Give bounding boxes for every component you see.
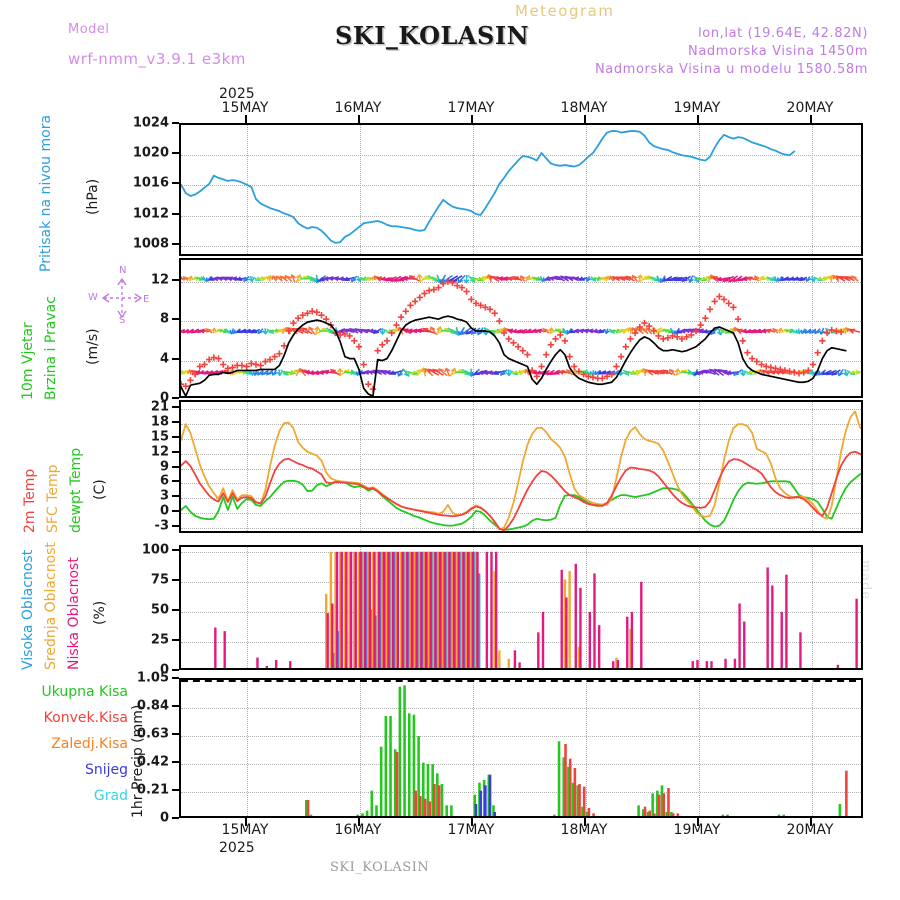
precip-bar: [569, 759, 572, 816]
cloud-bar: [387, 552, 389, 668]
precip-bar: [419, 796, 422, 816]
ytickmark-precip-1: [172, 789, 179, 791]
model-label: Model: [68, 22, 110, 37]
wind-gust-marker: [548, 342, 554, 348]
cloud-bar: [766, 567, 768, 668]
precip-bar: [361, 813, 364, 816]
wind-gust-marker: [253, 361, 259, 367]
cloud-bar: [837, 665, 839, 668]
ytick-temp-0: -3: [155, 518, 169, 533]
ytick-cloud-2: 50: [151, 602, 169, 617]
precip-bar: [839, 804, 842, 816]
date-tickmark: [358, 115, 360, 123]
wind-gust-marker: [360, 361, 366, 367]
wind-gust-marker: [740, 338, 746, 344]
ytickmark-temp-4: [172, 466, 179, 468]
cloud-bar: [640, 582, 642, 668]
cloud-bar: [341, 552, 343, 668]
cloud-bar: [392, 552, 394, 668]
wind-gust-marker: [384, 338, 390, 344]
ytickmark-cloud-2: [172, 609, 179, 611]
date-tickmark: [697, 818, 699, 826]
wind-gust-marker: [814, 349, 820, 355]
wind-barb: [670, 370, 676, 376]
precip-bar: [366, 811, 369, 816]
precip-bar: [782, 815, 785, 816]
cloud-bar: [734, 659, 736, 668]
wind-gust-marker: [623, 344, 629, 350]
precip-bar: [564, 744, 567, 816]
wind-gust-marker: [552, 336, 558, 342]
cloud-bar: [799, 632, 801, 668]
cloud-bar: [743, 622, 745, 668]
wind-gust-marker: [697, 322, 703, 328]
precip-bar: [408, 713, 411, 816]
cloud-bar: [439, 552, 441, 668]
precip-bar: [433, 784, 436, 816]
ytickmark-wind-2: [172, 318, 179, 320]
precip-bar: [475, 804, 478, 816]
wind-gust-marker: [744, 349, 750, 355]
ytick-precip-3: 0.63: [137, 727, 169, 742]
wind-gust-marker: [239, 362, 245, 368]
precip-bar: [553, 815, 556, 816]
ytickmark-temp-8: [172, 406, 179, 408]
cloud-bar: [434, 552, 436, 668]
cloud-bar: [429, 552, 431, 668]
wind-gust-marker: [398, 314, 404, 320]
cloud-bar: [598, 625, 600, 668]
cloud-bar: [518, 662, 520, 668]
precip-bar: [592, 813, 595, 816]
label-cloud-series-1: Srednja Oblacnost: [43, 542, 59, 670]
wind-gust-marker: [768, 364, 774, 370]
cloud-bar: [266, 666, 268, 668]
wind-gust-marker: [707, 306, 713, 312]
cloud-bar: [781, 612, 783, 668]
ytickmark-cloud-1: [172, 639, 179, 641]
ytick-cloud-4: 100: [142, 542, 169, 557]
ytick-precip-4: 0.84: [137, 699, 169, 714]
ytick-temp-4: 9: [160, 459, 169, 474]
wind-gust-marker: [524, 351, 530, 357]
cloud-bar: [710, 661, 712, 668]
ytickmark-wind-3: [172, 279, 179, 281]
cloud-bar: [444, 552, 446, 668]
ytickmark-precip-2: [172, 761, 179, 763]
ytickmark-pressure-3: [172, 152, 179, 154]
top-date-tick-17may: 17MAY: [448, 100, 495, 116]
date-tickmark: [584, 115, 586, 123]
wind-barb: [184, 277, 189, 280]
precip-bar: [389, 716, 392, 816]
cloud-bar: [383, 552, 385, 668]
cloud-bar: [275, 660, 277, 668]
precip-bar: [438, 785, 441, 816]
cloud-bar: [472, 552, 474, 668]
temperature-line-0: [181, 452, 861, 531]
wind-gust-marker: [726, 300, 732, 306]
cloud-bar: [331, 603, 333, 668]
wind-gust-marker: [735, 316, 741, 322]
top-date-tick-18may: 18MAY: [561, 100, 608, 116]
precip-bar: [778, 815, 781, 816]
label-pressure-unit: (hPa): [85, 179, 101, 215]
precip-bar: [637, 805, 640, 816]
precip-bar: [403, 685, 406, 816]
cloud-bar: [724, 659, 726, 668]
wind-gust-marker: [506, 336, 512, 342]
label-cloud-series-2: Niska Oblacnost: [66, 557, 82, 670]
cloud-bar: [326, 613, 328, 668]
ytick-pressure-2: 1016: [133, 176, 169, 191]
panel-temperature: [179, 400, 863, 533]
cloud-bar: [771, 585, 773, 668]
precip-bar: [450, 805, 453, 816]
cloud-bar: [738, 603, 740, 668]
cloud-bar: [537, 632, 539, 668]
label-wind-unit: (m/s): [85, 328, 101, 365]
wind-gust-marker: [365, 381, 371, 387]
cloud-bar: [593, 573, 595, 668]
label-brzina-i-pravac: Brzina i Pravac: [43, 296, 59, 400]
precip-bar: [399, 687, 402, 816]
cloud-bar: [855, 599, 857, 668]
precip-bar: [445, 805, 448, 816]
ytickmark-precip-4: [172, 705, 179, 707]
bottom-axis-year: 2025: [219, 840, 255, 856]
top-date-tick-19may: 19MAY: [674, 100, 721, 116]
wind-gust-marker: [538, 363, 544, 369]
label-precip-series-2: Zaledj.Kisa: [51, 736, 128, 752]
precip-bar: [658, 795, 661, 816]
wind-gust-marker: [220, 361, 226, 367]
cloud-bar: [476, 552, 478, 668]
wind-gust-marker: [520, 348, 526, 354]
compass-west-label: W: [88, 292, 98, 303]
precip-bar: [424, 799, 427, 816]
date-tickmark: [810, 818, 812, 826]
footer-station-name: SKI_KOLASIN: [330, 860, 429, 875]
cloud-bar: [289, 661, 291, 668]
precip-bar: [588, 808, 591, 816]
ytick-wind-1: 4: [160, 351, 169, 366]
ytickmark-precip-3: [172, 733, 179, 735]
precip-bar: [722, 815, 725, 816]
ytick-temp-2: 3: [160, 489, 169, 504]
wind-gust-marker: [510, 340, 516, 346]
wind-barb: [675, 369, 680, 375]
wind-gust-marker: [496, 318, 502, 324]
wind-gust-marker: [463, 288, 469, 294]
label-precip-series-3: Snijeg: [85, 762, 128, 778]
cloud-bar: [406, 552, 408, 668]
ytick-precip-5: 1.05: [137, 671, 169, 686]
panel-sea-level-pressure: [179, 123, 863, 256]
precip-bar-layer: [181, 680, 861, 816]
ytickmark-pressure-1: [172, 213, 179, 215]
cloud-bar: [355, 552, 357, 668]
date-tickmark: [358, 818, 360, 826]
cloud-bar: [378, 552, 380, 668]
wind-barb: [183, 371, 188, 374]
precip-bar: [371, 791, 374, 816]
label-cloud-series-0: Visoka Oblacnost: [20, 550, 36, 670]
precip-bar: [677, 813, 680, 816]
ytick-precip-0: 0: [160, 811, 169, 826]
precip-bar: [484, 785, 487, 816]
wind-gust-marker: [819, 338, 825, 344]
cloud-bar: [462, 552, 464, 668]
cloud-bar: [458, 552, 460, 668]
ytickmark-temp-7: [172, 421, 179, 423]
wind-gust-marker: [468, 296, 474, 302]
panel-precipitation: [179, 678, 863, 818]
precip-bar: [479, 791, 482, 816]
wind-gust-marker: [702, 315, 708, 321]
precip-bar: [428, 801, 431, 816]
cloud-bar: [542, 612, 544, 668]
cloud-bar: [696, 660, 698, 668]
cloud-bar: [345, 552, 347, 668]
model-name: wrf-nmm_v3.9.1 e3km: [68, 50, 246, 68]
precip-bar: [307, 800, 310, 816]
label-10m-vjetar: 10m Vjetar: [20, 322, 36, 400]
wind-trace-layer: [181, 260, 861, 396]
label-pritisak-na-nivou-mora: Pritisak na nivou mora: [38, 115, 54, 272]
cloud-bar: [514, 650, 516, 668]
label-temp-series-1: SFC Temp: [45, 465, 61, 533]
cloud-bar: [425, 552, 427, 668]
elevation-text: Nadmorska Visina 1450m: [688, 44, 868, 59]
ytick-temp-7: 18: [151, 415, 169, 430]
cloud-bar: [336, 552, 338, 668]
wind-gust-marker: [627, 336, 633, 342]
ytickmark-temp-0: [172, 525, 179, 527]
label-temp-series-0: 2m Temp: [22, 469, 38, 533]
top-date-tick-15may: 15MAY: [222, 100, 269, 116]
wind-gust-marker: [730, 304, 736, 310]
cloud-bar: [706, 661, 708, 668]
ytick-precip-2: 0.42: [137, 755, 169, 770]
cloud-bar: [420, 552, 422, 668]
page-title: SKI_KOLASIN: [335, 21, 529, 50]
ytick-pressure-0: 1008: [133, 236, 169, 251]
cloud-bar: [224, 631, 226, 668]
cloud-bar: [631, 612, 633, 668]
cloud-bar: [364, 552, 366, 668]
precip-bar: [489, 775, 492, 816]
ytickmark-pressure-4: [172, 122, 179, 124]
cloud-bar: [626, 617, 628, 668]
precip-bar: [414, 791, 417, 816]
wind-gust-marker: [351, 338, 357, 344]
cloud-bar: [575, 564, 577, 668]
ytickmark-temp-3: [172, 480, 179, 482]
cloud-bar: [453, 552, 455, 668]
wind-barb: [773, 329, 778, 333]
wind-gust-marker: [712, 298, 718, 304]
precip-bar: [578, 784, 581, 816]
cloud-bar: [785, 575, 787, 668]
ytickmark-precip-0: [172, 817, 179, 819]
precip-bar: [648, 811, 651, 816]
panel-10m-wind: [179, 258, 863, 398]
cloud-bar: [359, 552, 361, 668]
label-precip-series-1: Konvek.Kisa: [44, 710, 128, 726]
precip-bar: [667, 788, 670, 816]
mslp-trace-layer: [181, 125, 861, 254]
precip-bar: [493, 812, 496, 816]
cloud-bar: [486, 552, 488, 668]
ytickmark-pressure-2: [172, 182, 179, 184]
precip-bar: [356, 815, 359, 816]
wind-gust-marker: [215, 355, 221, 361]
precip-bar: [558, 741, 561, 816]
wind-gust-marker: [810, 361, 816, 367]
lonlat-text: lon,lat (19.64E, 42.82N): [698, 26, 868, 41]
cloud-bar: [256, 658, 258, 668]
precip-bar: [583, 787, 586, 816]
temperature-line-1: [181, 411, 861, 529]
ytick-cloud-3: 75: [151, 572, 169, 587]
wind-gust-marker: [403, 308, 409, 314]
mslp-line: [181, 131, 794, 243]
cloud-bar: [467, 552, 469, 668]
label-precip-series-0: Ukupna Kisa: [41, 684, 128, 700]
wind-gust-marker: [613, 363, 619, 369]
meteogram-header-label: Meteogram: [515, 2, 614, 20]
precip-bar: [663, 793, 666, 816]
ytickmark-cloud-3: [172, 579, 179, 581]
ytickmark-cloud-4: [172, 549, 179, 551]
cloud-bar: [490, 552, 492, 668]
cloud-bar: [397, 552, 399, 668]
ytick-pressure-1: 1012: [133, 206, 169, 221]
cloud-bar: [617, 660, 619, 668]
cloud-bar: [350, 552, 352, 668]
cloud-bar: [565, 597, 567, 668]
ytickmark-wind-1: [172, 358, 179, 360]
model-elevation-text: Nadmorska Visina u modelu 1580.58m: [595, 62, 868, 77]
wind-gust-marker: [417, 294, 423, 300]
wind-barb: [843, 369, 848, 375]
cloud-bar: [373, 552, 375, 668]
wind-gust-marker: [290, 320, 296, 326]
cloud-bar: [495, 552, 497, 668]
wind-gust-marker: [492, 310, 498, 316]
ytickmark-temp-5: [172, 451, 179, 453]
cloud-bar: [411, 552, 413, 668]
compass-south-label: S: [119, 315, 125, 326]
wind-barb: [850, 329, 860, 332]
compass-north-label: N: [119, 265, 126, 276]
precip-bar: [380, 747, 383, 816]
wind-gust-marker: [412, 298, 418, 304]
ytick-wind-2: 8: [160, 312, 169, 327]
cloud-bar: [369, 552, 371, 668]
cloud-bar: [579, 588, 581, 668]
ytick-temp-1: 0: [160, 503, 169, 518]
wind-barb: [430, 327, 436, 334]
wind-gust-marker: [379, 342, 385, 348]
wind-speed-line: [181, 316, 846, 396]
wind-gust-marker: [356, 344, 362, 350]
precip-bar: [845, 771, 848, 816]
ytick-temp-5: 12: [151, 444, 169, 459]
wind-gust-marker: [257, 362, 263, 368]
date-tickmark: [584, 818, 586, 826]
wind-gust-marker: [543, 351, 549, 357]
wind-gust-marker: [618, 353, 624, 359]
wind-barb: [543, 329, 549, 333]
wind-barb: [754, 276, 759, 281]
wind-gust-marker: [374, 348, 380, 354]
date-tickmark: [697, 115, 699, 123]
precip-bar: [653, 813, 656, 816]
cloud-bar: [561, 570, 563, 668]
cloud-bar: [415, 552, 417, 668]
date-tickmark: [810, 115, 812, 123]
wind-gust-marker: [187, 377, 193, 383]
ytick-precip-1: 0.21: [137, 783, 169, 798]
ytick-temp-6: 15: [151, 429, 169, 444]
precip-bar: [726, 815, 729, 816]
top-date-tick-16may: 16MAY: [335, 100, 382, 116]
ytick-cloud-1: 25: [151, 632, 169, 647]
ytickmark-temp-6: [172, 436, 179, 438]
ytickmark-precip-5: [172, 677, 179, 679]
date-tickmark: [471, 818, 473, 826]
compass-east-label: E: [143, 294, 149, 305]
date-tickmark: [245, 818, 247, 826]
ytickmark-pressure-0: [172, 243, 179, 245]
cloud-bar: [448, 552, 450, 668]
date-tickmark: [245, 115, 247, 123]
wind-gust-marker: [515, 344, 521, 350]
label-cloud-unit: (%): [92, 601, 108, 625]
ytick-pressure-3: 1020: [133, 146, 169, 161]
ytickmark-temp-2: [172, 495, 179, 497]
cloud-bar: [214, 628, 216, 668]
cloud-bar: [589, 612, 591, 668]
top-date-tick-20may: 20MAY: [787, 100, 834, 116]
ytick-temp-3: 6: [160, 474, 169, 489]
label-temp-series-2: dewpt Temp: [68, 448, 84, 533]
label-precip-series-4: Grad: [94, 788, 128, 804]
panel-cloud-cover: [179, 545, 863, 670]
wind-gust-marker: [571, 363, 577, 369]
precip-bar: [441, 784, 444, 816]
precip-bar: [375, 805, 378, 816]
wind-gust-marker: [407, 302, 413, 308]
cloud-bar: [612, 661, 614, 668]
precip-bar: [310, 815, 313, 816]
cloud-bar: [568, 571, 570, 668]
ytick-wind-3: 12: [151, 272, 169, 287]
temperature-trace-layer: [181, 402, 861, 531]
ytick-pressure-4: 1024: [133, 116, 169, 131]
cloud-bar: [498, 650, 500, 668]
wind-gust-marker: [562, 338, 568, 344]
cloud-bar-layer: [181, 547, 861, 668]
precip-bar: [574, 768, 577, 816]
precip-bar: [644, 807, 647, 816]
precip-bar: [385, 716, 388, 816]
label-temp-unit: (C): [92, 479, 108, 500]
wind-barb: [244, 276, 249, 281]
ytickmark-wind-0: [172, 397, 179, 399]
